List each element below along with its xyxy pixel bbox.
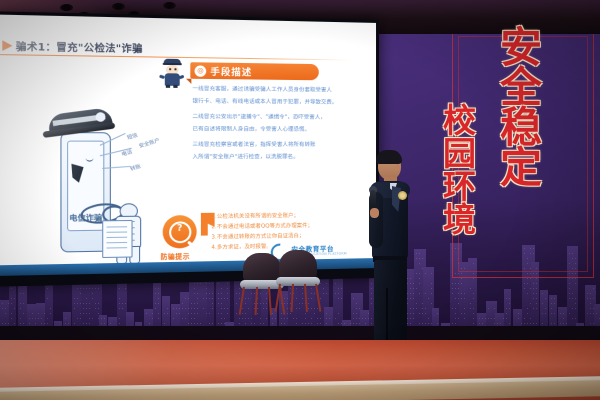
city-window <box>95 308 96 309</box>
city-window <box>47 323 48 324</box>
city-window <box>311 323 312 324</box>
city-window <box>452 323 453 324</box>
city-window <box>533 293 534 294</box>
city-window <box>575 278 576 279</box>
city-window <box>86 303 87 304</box>
tips-label: 防骗提示 <box>161 250 190 261</box>
city-window <box>509 323 510 324</box>
city-window <box>2 323 3 324</box>
city-window <box>83 323 84 324</box>
section-banner: ◎ 手段描述 <box>190 62 318 80</box>
city-window <box>335 293 336 294</box>
city-window <box>569 288 570 289</box>
city-window <box>431 293 432 294</box>
city-window <box>320 323 321 324</box>
city-window <box>284 323 285 324</box>
city-window <box>563 313 564 314</box>
city-window <box>302 323 303 324</box>
city-window <box>365 318 366 319</box>
city-window <box>227 308 228 309</box>
city-window <box>551 308 552 309</box>
city-window <box>182 308 183 309</box>
city-window <box>11 313 12 314</box>
city-window <box>2 303 3 304</box>
city-window <box>203 298 204 299</box>
victim-figure-icon <box>111 201 146 262</box>
city-window <box>491 318 492 319</box>
city-window <box>92 318 93 319</box>
tips-icon-glyph: ? <box>171 224 189 234</box>
callout-label: 转账 <box>129 163 142 173</box>
city-window <box>227 283 228 284</box>
city-window <box>47 318 48 319</box>
city-window <box>218 323 219 324</box>
city-window <box>500 323 501 324</box>
city-window <box>536 308 537 309</box>
city-window <box>86 323 87 324</box>
city-window <box>551 313 552 314</box>
city-window <box>524 283 525 284</box>
city-window <box>425 308 426 309</box>
city-window <box>569 283 570 284</box>
city-window <box>119 308 120 309</box>
city-window <box>554 303 555 304</box>
city-window <box>425 273 426 274</box>
city-window <box>194 318 195 319</box>
city-window <box>326 318 327 319</box>
city-window <box>122 308 123 309</box>
city-window <box>452 293 453 294</box>
city-window <box>542 293 543 294</box>
city-window <box>227 293 228 294</box>
city-window <box>20 308 21 309</box>
city-window <box>182 303 183 304</box>
city-window <box>98 313 99 314</box>
city-window <box>236 313 237 314</box>
city-window <box>23 323 24 324</box>
city-window <box>575 298 576 299</box>
city-window <box>455 318 456 319</box>
city-window <box>560 313 561 314</box>
city-window <box>164 313 165 314</box>
city-window <box>155 293 156 294</box>
slide-paragraph: 三线冒充检察官或者法官，指挥受害人将所有转账 <box>192 143 315 149</box>
city-window <box>245 318 246 319</box>
city-window <box>185 308 186 309</box>
city-window <box>587 313 588 314</box>
city-window <box>95 288 96 289</box>
city-window <box>185 298 186 299</box>
slide-paragraph: 银行卡、电话、有线电话或本人冒用于犯罪，并导致交费。 <box>192 99 337 106</box>
city-window <box>452 283 453 284</box>
city-window <box>65 318 66 319</box>
city-window <box>431 283 432 284</box>
city-window <box>158 298 159 299</box>
city-window <box>218 283 219 284</box>
city-window <box>464 308 465 309</box>
city-window <box>575 318 576 319</box>
city-window <box>14 308 15 309</box>
city-window <box>536 303 537 304</box>
city-window <box>158 293 159 294</box>
calligraphy-sub-char: 环 <box>443 170 476 203</box>
projection-screen: 骗术1：冒充"公检法"诈骗 ◎ 手段描述 一 <box>0 11 379 287</box>
city-window <box>545 313 546 314</box>
document-icon <box>102 220 132 258</box>
city-window <box>326 313 327 314</box>
city-window <box>473 293 474 294</box>
city-window <box>509 303 510 304</box>
city-window <box>536 278 537 279</box>
city-window <box>464 318 465 319</box>
city-window <box>464 293 465 294</box>
banner-badge-glyph: ◎ <box>197 67 203 74</box>
city-window <box>482 323 483 324</box>
city-window <box>149 323 150 324</box>
city-window <box>461 293 462 294</box>
city-window <box>20 293 21 294</box>
city-window <box>98 288 99 289</box>
city-window <box>569 278 570 279</box>
city-window <box>2 308 3 309</box>
slide-paragraph: 入所谓"安全账户"进行检查，以洗脱罪名。 <box>192 155 298 161</box>
city-window <box>176 308 177 309</box>
city-window <box>191 308 192 309</box>
city-window <box>38 318 39 319</box>
city-window <box>338 313 339 314</box>
city-window <box>212 298 213 299</box>
city-window <box>281 323 282 324</box>
city-window <box>461 283 462 284</box>
city-window <box>506 318 507 319</box>
city-window <box>194 308 195 309</box>
city-window <box>338 293 339 294</box>
tips-line: 1.公检法机关没有所谓的安全账户； <box>211 214 299 220</box>
city-window <box>575 283 576 284</box>
city-window <box>590 323 591 324</box>
city-window <box>203 308 204 309</box>
city-window <box>158 318 159 319</box>
city-window <box>422 258 423 259</box>
city-window <box>173 308 174 309</box>
city-window <box>119 323 120 324</box>
city-window <box>320 318 321 319</box>
city-window <box>560 323 561 324</box>
city-window <box>65 323 66 324</box>
city-window <box>425 313 426 314</box>
city-window <box>290 313 291 314</box>
city-window <box>194 313 195 314</box>
city-window <box>455 313 456 314</box>
city-window <box>359 308 360 309</box>
city-window <box>437 313 438 314</box>
city-window <box>473 323 474 324</box>
city-window <box>545 298 546 299</box>
magnifier-question-icon: ? <box>163 215 197 249</box>
city-window <box>281 318 282 319</box>
city-window <box>50 308 51 309</box>
city-window <box>77 298 78 299</box>
city-window <box>455 323 456 324</box>
city-window <box>32 318 33 319</box>
city-window <box>554 323 555 324</box>
city-window <box>209 298 210 299</box>
city-window <box>284 318 285 319</box>
city-window <box>254 323 255 324</box>
city-window <box>50 313 51 314</box>
city-window <box>509 308 510 309</box>
city-window <box>524 318 525 319</box>
city-window <box>590 308 591 309</box>
city-window <box>554 313 555 314</box>
city-window <box>455 308 456 309</box>
city-window <box>227 298 228 299</box>
ceiling-downlight <box>163 2 176 9</box>
city-window <box>326 293 327 294</box>
lecture-stage-photo: 骗术1：冒充"公检法"诈骗 ◎ 手段描述 一 <box>0 0 600 400</box>
slide-title-row: 骗术1：冒充"公检法"诈骗 <box>2 38 142 55</box>
city-window <box>572 298 573 299</box>
city-window <box>536 323 537 324</box>
city-window <box>224 318 225 319</box>
city-window <box>431 273 432 274</box>
city-window <box>536 298 537 299</box>
city-window <box>218 293 219 294</box>
city-window <box>266 318 267 319</box>
police-officer-mascot-icon <box>161 59 184 88</box>
city-window <box>455 283 456 284</box>
city-window <box>488 318 489 319</box>
city-window <box>551 323 552 324</box>
city-window <box>590 313 591 314</box>
city-window <box>119 298 120 299</box>
banner-tail <box>186 79 191 84</box>
city-window <box>575 308 576 309</box>
city-window <box>317 323 318 324</box>
city-window <box>110 323 111 324</box>
city-window <box>176 313 177 314</box>
city-window <box>563 318 564 319</box>
city-window <box>533 298 534 299</box>
city-window <box>92 288 93 289</box>
city-window <box>470 288 471 289</box>
city-window <box>239 323 240 324</box>
city-window <box>569 298 570 299</box>
city-window <box>212 303 213 304</box>
city-window <box>191 318 192 319</box>
city-window <box>473 298 474 299</box>
chair <box>276 250 320 312</box>
city-window <box>221 298 222 299</box>
city-window <box>23 293 24 294</box>
speaker-police-officer <box>368 148 420 362</box>
city-window <box>572 318 573 319</box>
city-window <box>572 293 573 294</box>
city-window <box>185 318 186 319</box>
city-window <box>533 323 534 324</box>
city-window <box>86 288 87 289</box>
city-window <box>308 323 309 324</box>
tips-line: 2.不会通过电话或者QQ等方式办理案件； <box>211 224 312 231</box>
city-window <box>20 318 21 319</box>
callout-label: 电话 <box>121 148 134 158</box>
city-window <box>38 313 39 314</box>
city-window <box>365 323 366 324</box>
city-window <box>473 313 474 314</box>
city-window <box>551 298 552 299</box>
city-window <box>272 323 273 324</box>
city-window <box>464 313 465 314</box>
city-window <box>437 323 438 324</box>
city-window <box>362 318 363 319</box>
city-window <box>191 303 192 304</box>
city-window <box>209 313 210 314</box>
city-window <box>194 288 195 289</box>
city-window <box>209 283 210 284</box>
city-window <box>590 298 591 299</box>
city-window <box>224 298 225 299</box>
slide-surface: 骗术1：冒充"公检法"诈骗 ◎ 手段描述 一 <box>0 15 376 276</box>
city-window <box>320 283 321 284</box>
city-window <box>74 303 75 304</box>
city-window <box>200 323 201 324</box>
city-window <box>596 313 597 314</box>
city-window <box>212 283 213 284</box>
tips-line: 4.多方求证，及时报警。 <box>211 245 271 251</box>
city-window <box>212 308 213 309</box>
city-window <box>323 288 324 289</box>
city-window <box>83 308 84 309</box>
city-window <box>461 278 462 279</box>
city-window <box>509 298 510 299</box>
city-window <box>533 308 534 309</box>
city-window <box>356 313 357 314</box>
city-window <box>320 298 321 299</box>
city-window <box>5 313 6 314</box>
city-window <box>431 303 432 304</box>
city-window <box>122 303 123 304</box>
city-window <box>338 298 339 299</box>
city-window <box>293 318 294 319</box>
city-window <box>173 318 174 319</box>
city-window <box>533 288 534 289</box>
city-window <box>125 288 126 289</box>
city-window <box>200 283 201 284</box>
city-window <box>86 298 87 299</box>
city-window <box>32 313 33 314</box>
city-window <box>569 293 570 294</box>
city-window <box>572 308 573 309</box>
city-window <box>221 288 222 289</box>
slide-paragraph: 一线冒充客服，通过诱骗受骗人工作人员身份套取受害人 <box>192 87 331 94</box>
city-window <box>221 318 222 319</box>
city-window <box>428 318 429 319</box>
city-window <box>236 303 237 304</box>
calligraphy-main-char: 全 <box>500 68 542 108</box>
city-window <box>593 298 594 299</box>
city-window <box>47 288 48 289</box>
city-window <box>455 298 456 299</box>
city-window <box>14 323 15 324</box>
city-window <box>527 283 528 284</box>
city-window <box>353 313 354 314</box>
backdrop-calligraphy-main: 安全稳定 <box>500 28 542 188</box>
speech-bubble-icon: ◎ <box>195 65 207 76</box>
city-window <box>590 303 591 304</box>
city-window <box>311 318 312 319</box>
city-window <box>587 293 588 294</box>
city-window <box>482 318 483 319</box>
city-window <box>191 313 192 314</box>
calligraphy-main-char: 安 <box>500 28 542 68</box>
city-window <box>506 308 507 309</box>
city-window <box>536 283 537 284</box>
city-window <box>86 308 87 309</box>
city-window <box>542 303 543 304</box>
backdrop-calligraphy-sub: 校园环境 <box>443 104 476 236</box>
city-window <box>221 303 222 304</box>
city-window <box>356 308 357 309</box>
city-window <box>479 318 480 319</box>
city-window <box>212 293 213 294</box>
ceiling-downlight <box>60 4 73 11</box>
city-window <box>425 323 426 324</box>
city-window <box>98 303 99 304</box>
city-window <box>41 318 42 319</box>
city-window <box>77 288 78 289</box>
city-window <box>158 313 159 314</box>
city-window <box>167 313 168 314</box>
city-window <box>212 323 213 324</box>
banner-label: 手段描述 <box>210 64 252 78</box>
city-window <box>209 293 210 294</box>
city-window <box>104 323 105 324</box>
city-window <box>221 323 222 324</box>
city-window <box>104 318 105 319</box>
city-window <box>20 323 21 324</box>
city-window <box>245 323 246 324</box>
city-window <box>455 288 456 289</box>
city-window <box>527 313 528 314</box>
triangle-right-icon <box>2 40 12 51</box>
city-window <box>5 308 6 309</box>
city-window <box>461 298 462 299</box>
city-window <box>338 323 339 324</box>
city-window <box>461 313 462 314</box>
city-window <box>92 293 93 294</box>
city-window <box>536 293 537 294</box>
city-window <box>11 318 12 319</box>
city-window <box>158 303 159 304</box>
city-window <box>425 293 426 294</box>
city-window <box>125 303 126 304</box>
city-window <box>29 323 30 324</box>
city-window <box>221 308 222 309</box>
city-window <box>155 288 156 289</box>
city-window <box>494 308 495 309</box>
city-window <box>452 288 453 289</box>
city-window <box>236 293 237 294</box>
city-window <box>545 308 546 309</box>
city-window <box>275 318 276 319</box>
city-window <box>218 298 219 299</box>
city-window <box>488 308 489 309</box>
city-window <box>155 303 156 304</box>
city-window <box>356 303 357 304</box>
city-window <box>95 303 96 304</box>
city-window <box>77 303 78 304</box>
city-window <box>74 308 75 309</box>
